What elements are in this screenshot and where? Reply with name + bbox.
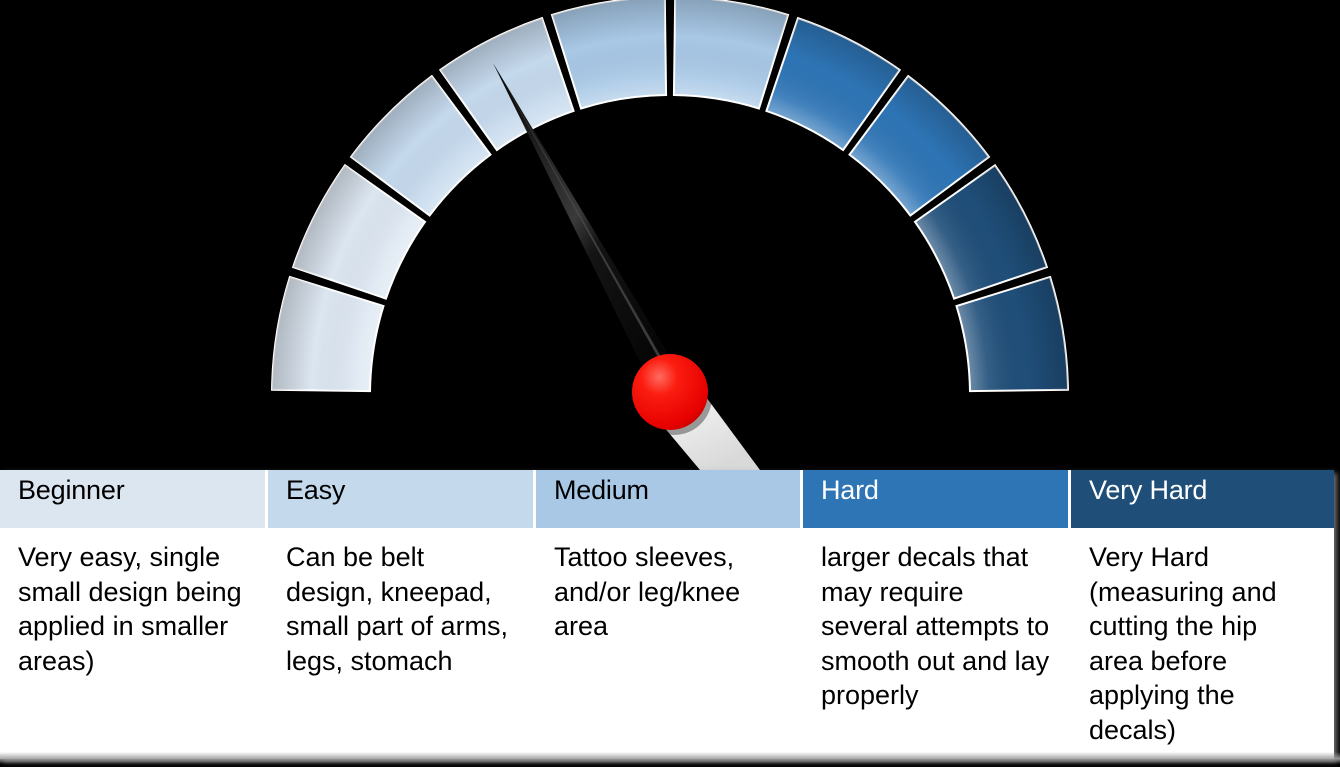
legend-body-hard: larger decals that may require several a… — [803, 528, 1068, 759]
gauge-chart — [0, 0, 1340, 470]
legend-body-easy: Can be belt design, kneepad, small part … — [268, 528, 533, 759]
gauge-segment-bevel-1 — [272, 277, 383, 391]
gauge-segment-bevel-10 — [957, 277, 1068, 391]
legend-header-row: Beginner Easy Medium Hard Very Hard — [0, 470, 1334, 528]
legend-body-beginner: Very easy, single small design being app… — [0, 528, 265, 759]
gauge-segment-bevel-6 — [674, 0, 788, 108]
legend-body-medium: Tattoo sleeves, and/or leg/knee area — [536, 528, 800, 759]
legend-body-row: Very easy, single small design being app… — [0, 528, 1334, 759]
legend-body-very-hard: Very Hard (measuring and cutting the hip… — [1071, 528, 1334, 759]
legend-header-hard[interactable]: Hard — [803, 470, 1068, 528]
gauge-svg — [0, 0, 1340, 470]
gauge-needle — [493, 63, 684, 392]
legend-header-beginner[interactable]: Beginner — [0, 470, 265, 528]
gauge-segment-bevel-5 — [552, 0, 666, 108]
slide-canvas: Beginner Easy Medium Hard Very Hard Very… — [0, 0, 1340, 767]
difficulty-legend-table: Beginner Easy Medium Hard Very Hard Very… — [0, 470, 1334, 759]
gauge-segments — [272, 0, 1068, 391]
gauge-hub — [632, 354, 708, 430]
legend-header-easy[interactable]: Easy — [268, 470, 533, 528]
legend-header-medium[interactable]: Medium — [536, 470, 800, 528]
legend-header-very-hard[interactable]: Very Hard — [1071, 470, 1334, 528]
